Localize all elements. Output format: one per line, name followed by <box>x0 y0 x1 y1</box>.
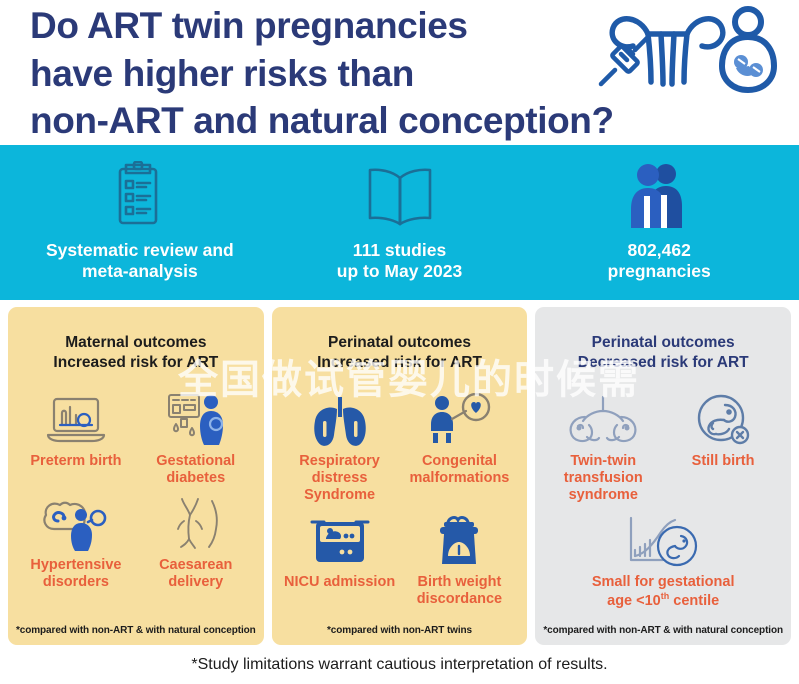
stat-studies-count: 111 studies up to May 2023 <box>270 160 530 282</box>
stat-systematic-review: Systematic review and meta-analysis <box>10 160 270 282</box>
outcome-item-caesarean-delivery: Caesarean delivery <box>136 493 256 591</box>
panel-item-list: Respiratory distress Syndrome <box>280 379 520 625</box>
fetus-cross-icon <box>693 389 753 447</box>
panel-title: Maternal outcomes Increased risk for ART <box>16 333 256 373</box>
pregnant-woman-twins-icon <box>722 9 774 90</box>
outcome-item-nicu-admission: NICU admission <box>280 510 400 608</box>
stat-label: Systematic review and meta-analysis <box>46 240 234 282</box>
outcome-label: Preterm birth <box>28 453 123 470</box>
baby-heart-magnifier-icon <box>426 389 492 447</box>
panel-title: Perinatal outcomes Decreased risk for AR… <box>543 333 783 373</box>
glucose-test-pregnant-woman-icon <box>165 389 227 447</box>
baby-weighing-scale-icon <box>430 510 488 568</box>
page-title-line-1: Do ART twin pregnancies <box>30 2 610 50</box>
outcome-item-preterm-birth: Preterm birth <box>16 389 136 487</box>
outcome-item-twin-twin-transfusion: Twin-twin transfusion syndrome <box>543 389 663 504</box>
outcome-label: NICU admission <box>282 574 397 591</box>
twin-fetuses-shared-placenta-icon <box>565 389 641 447</box>
clipboard-checklist-icon <box>112 160 168 232</box>
outcome-item-congenital-malformations: Congenital malformations <box>400 389 520 504</box>
outcome-item-small-for-gestational-age: Small for gestationalage <10th centile <box>543 510 783 610</box>
page-title-line-3: non-ART and natural conception? <box>30 97 610 145</box>
outcome-item-birth-weight-discordance: Birth weight discordance <box>400 510 520 608</box>
open-book-icon <box>364 160 436 232</box>
header: Do ART twin pregnancies have higher risk… <box>0 0 799 145</box>
panel-perinatal-decreased: Perinatal outcomes Decreased risk for AR… <box>535 307 791 645</box>
outcome-label: Congenital malformations <box>407 453 511 487</box>
outcome-label: Hypertensive disorders <box>28 557 123 591</box>
header-icon-group <box>591 4 781 96</box>
stat-pregnancies-count: 802,462 pregnancies <box>529 160 789 282</box>
stats-band: Systematic review and meta-analysis 111 … <box>0 145 799 300</box>
blood-pressure-pregnant-woman-icon <box>42 493 110 551</box>
panel-maternal-outcomes: Maternal outcomes Increased risk for ART… <box>8 307 264 645</box>
panel-title: Perinatal outcomes Increased risk for AR… <box>280 333 520 373</box>
lungs-icon <box>311 389 369 447</box>
panel-footnote: *compared with non-ART twins <box>280 625 520 639</box>
panel-footnote: *compared with non-ART & with natural co… <box>16 625 256 639</box>
panel-perinatal-increased: Perinatal outcomes Increased risk for AR… <box>272 307 528 645</box>
outcome-label: Still birth <box>690 453 757 470</box>
stat-label: 111 studies up to May 2023 <box>337 240 462 282</box>
study-limitations-note: *Study limitations warrant cautious inte… <box>0 645 799 674</box>
outcome-label: Caesarean delivery <box>157 557 234 591</box>
header-icons-svg <box>591 4 781 96</box>
outcome-item-respiratory-distress: Respiratory distress Syndrome <box>280 389 400 504</box>
panel-item-list: Preterm birth <box>16 379 256 625</box>
outcome-label: Small for gestationalage <10th centile <box>590 574 737 610</box>
outcome-item-hypertensive-disorders: Hypertensive disorders <box>16 493 136 591</box>
stat-label: 802,462 pregnancies <box>608 240 711 282</box>
page-title-line-2: have higher risks than <box>30 50 610 98</box>
outcome-label: Gestational diabetes <box>154 453 237 487</box>
outcome-label: Twin-twin transfusion syndrome <box>562 453 645 504</box>
panel-item-list: Twin-twin transfusion syndrome St <box>543 379 783 625</box>
outcome-label: Respiratory distress Syndrome <box>280 453 400 504</box>
outcome-item-gestational-diabetes: Gestational diabetes <box>136 389 256 487</box>
twin-fetuses-inline-icon <box>734 55 763 77</box>
ultrasound-monitor-icon <box>46 389 106 447</box>
two-people-icon <box>628 160 690 232</box>
outcome-label: Birth weight discordance <box>415 574 504 608</box>
growth-chart-fetus-icon <box>623 510 703 568</box>
page-title: Do ART twin pregnancies have higher risk… <box>30 2 610 145</box>
caesarean-incision-icon <box>168 493 224 551</box>
outcome-panels: Maternal outcomes Increased risk for ART… <box>0 300 799 645</box>
outcome-item-still-birth: Still birth <box>663 389 783 504</box>
incubator-icon <box>310 510 370 568</box>
panel-footnote: *compared with non-ART & with natural co… <box>543 625 783 639</box>
